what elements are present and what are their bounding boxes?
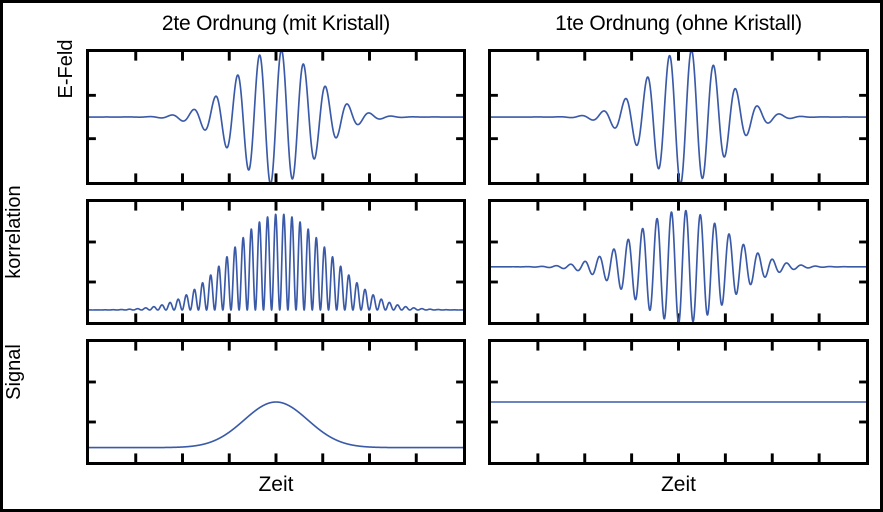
column-title-first-order: 1te Ordnung (ohne Kristall): [488, 12, 869, 36]
column-title-second-order: 2te Ordnung (mit Kristall): [86, 12, 466, 36]
plot-svg: [89, 202, 463, 322]
plot-panel-efield-second-order: [86, 49, 466, 185]
plot-svg: [491, 342, 866, 462]
plot-panel-detected-second-order: [86, 339, 466, 465]
plot-panel-detected-first-order: [488, 339, 869, 465]
plot-svg: [89, 342, 463, 462]
figure-root: 2te Ordnung (mit Kristall) 1te Ordnung (…: [0, 0, 883, 512]
data-curve-efield-first-order: [491, 52, 866, 182]
plot-svg: [491, 52, 866, 182]
row-label-correlation: volle Auto- korrelation: [0, 169, 37, 295]
data-curve-full-autocorrelation-first-order: [491, 211, 866, 322]
plot-svg: [491, 202, 866, 322]
x-axis-label-left: Zeit: [86, 473, 466, 497]
plot-panel-correlation-first-order: [488, 199, 869, 325]
plot-panel-correlation-second-order: [86, 199, 466, 325]
data-curve-efield-second-order: [89, 52, 463, 182]
data-curve-full-autocorrelation-second-order: [89, 214, 463, 310]
row-label-efield: E-Feld: [46, 1, 86, 137]
data-curve-detected-signal-second-order: [89, 402, 463, 448]
x-axis-label-right: Zeit: [488, 473, 869, 497]
row-label-detected: Detektiertes Signal: [0, 309, 37, 435]
plot-panel-efield-first-order: [488, 49, 869, 185]
plot-svg: [89, 52, 463, 182]
axis-ticks: [491, 202, 866, 322]
